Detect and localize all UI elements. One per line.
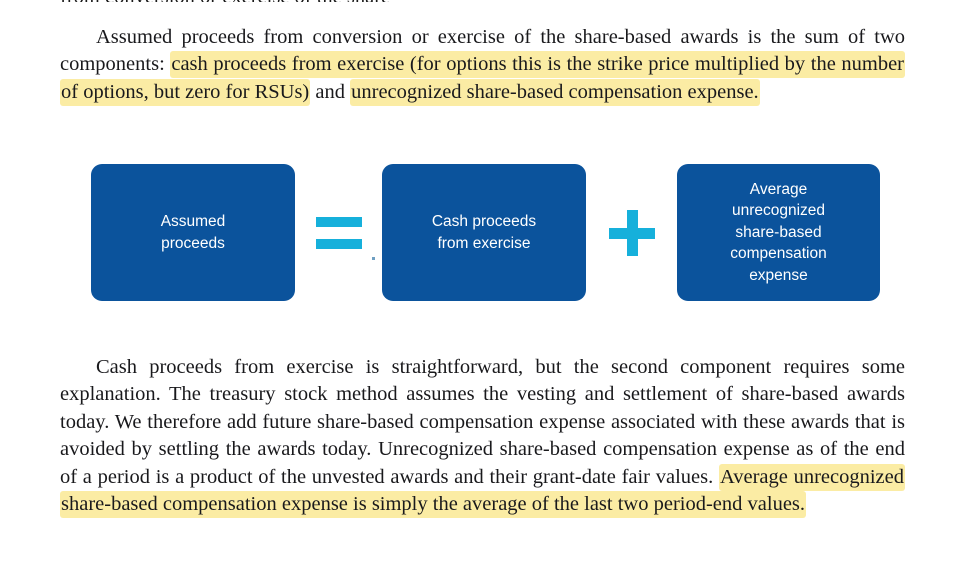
paragraph-assumed-proceeds: Assumed proceeds from conversion or exer… — [60, 24, 905, 107]
assumed-proceeds-formula-diagram: Assumed proceeds Cash proceeds from exer… — [91, 164, 880, 301]
page-speck — [372, 257, 375, 260]
paragraph-1-text-plain-2: and — [310, 81, 350, 103]
formula-box-assumed-proceeds: Assumed proceeds — [91, 164, 295, 301]
formula-box-cash-proceeds: Cash proceeds from exercise — [382, 164, 586, 301]
formula-box-2-label: Cash proceeds from exercise — [432, 211, 536, 254]
plus-sign-icon — [586, 164, 677, 301]
plus-glyph — [609, 210, 655, 256]
clipped-top-line: from conversion or exercise of the share — [60, 0, 905, 2]
equals-glyph — [316, 217, 362, 249]
equals-sign-icon — [295, 164, 382, 301]
paragraph-1-highlight-2: unrecognized share-based compensation ex… — [350, 79, 760, 106]
paragraph-cash-proceeds-explanation: Cash proceeds from exercise is straightf… — [60, 354, 905, 519]
formula-box-3-label: Average unrecognized share-based compens… — [730, 179, 827, 287]
formula-box-1-label: Assumed proceeds — [161, 211, 226, 254]
formula-box-average-unrecognized-expense: Average unrecognized share-based compens… — [677, 164, 880, 301]
